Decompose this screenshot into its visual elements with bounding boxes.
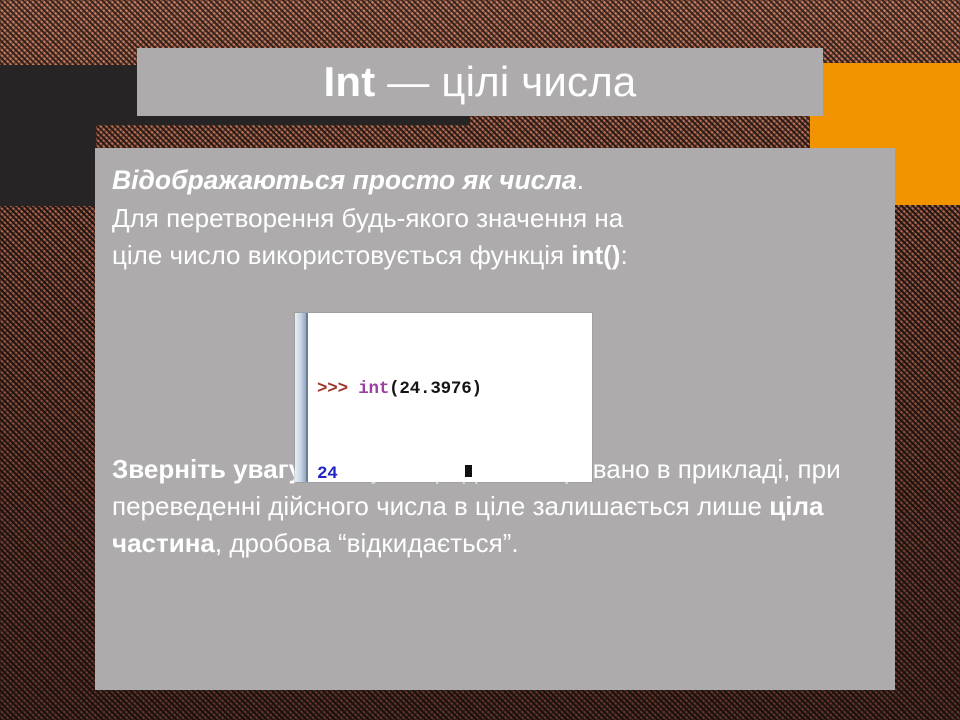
slide-title-keyword: Int [324, 58, 376, 105]
code-prompt-token: >>> [317, 379, 358, 399]
slide-title: Int — цілі числа [324, 61, 637, 103]
code-screenshot-image: >>> int(24.3976) 24 >>> x=24.3976 >>> in… [295, 313, 592, 482]
paragraph-conversion-prefix: ціле число використовується функція [112, 240, 571, 270]
slide-canvas: Int — цілі числа Відображаються просто я… [0, 0, 960, 720]
paragraph-intro: Відображаються просто як числа. [112, 162, 883, 200]
code-plain-token: (24.3976) [389, 379, 482, 399]
slide-title-bar: Int — цілі числа [137, 48, 823, 116]
code-listing: >>> int(24.3976) 24 >>> x=24.3976 >>> in… [317, 318, 588, 482]
inline-code-int: int() [571, 240, 620, 270]
code-function-token: int [358, 379, 389, 399]
paragraph-conversion-suffix: : [620, 240, 627, 270]
code-output-token: 24 [317, 464, 338, 482]
code-line: >>> int(24.3976) [317, 375, 588, 403]
decor-block-dark [0, 65, 96, 206]
slide-title-rest: — цілі числа [375, 58, 636, 105]
code-scrollbar[interactable] [295, 313, 308, 482]
code-line: 24 [317, 460, 588, 482]
paragraph-intro-period: . [577, 165, 584, 195]
paragraph-conversion-line2: ціле число використовується функція int(… [112, 237, 883, 274]
paragraph-intro-emphasis: Відображаються просто як числа [112, 165, 577, 195]
note-lead-label: Зверніть увагу! [112, 454, 312, 484]
text-caret [465, 465, 472, 477]
paragraph-conversion-line1: Для перетворення будь-якого значення на [112, 200, 883, 237]
note-body-c: , дробова “відкидається”. [215, 528, 519, 558]
